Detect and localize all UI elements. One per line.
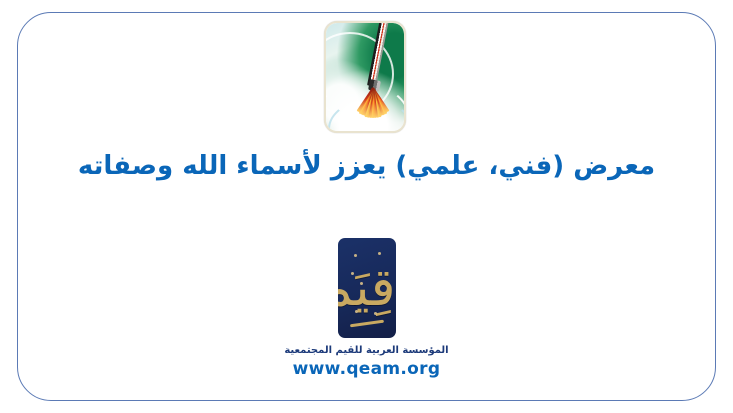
organization-branding: قِيَم المؤسسة العربية للقيم المجتمعية ww… xyxy=(0,238,733,380)
presentation-slide: معرض (فني، علمي) يعزز لأسماء الله وصفاته… xyxy=(0,0,733,413)
page-title: معرض (فني، علمي) يعزز لأسماء الله وصفاته xyxy=(17,146,716,186)
organization-name: المؤسسة العربية للقيم المجتمعية xyxy=(0,344,733,357)
qeam-logo-icon: قِيَم xyxy=(338,238,396,338)
calligraphy-dot xyxy=(351,272,354,275)
organization-website[interactable]: www.qeam.org xyxy=(0,359,733,380)
paintbrush-photo-image xyxy=(326,23,404,131)
calligraphy-dot xyxy=(374,312,377,315)
paintbrush-photo xyxy=(324,21,406,133)
calligraphy-dot xyxy=(360,282,363,285)
calligraphy-dot xyxy=(354,254,357,257)
calligraphy-dot xyxy=(355,310,358,313)
calligraphy-dot xyxy=(378,252,381,255)
